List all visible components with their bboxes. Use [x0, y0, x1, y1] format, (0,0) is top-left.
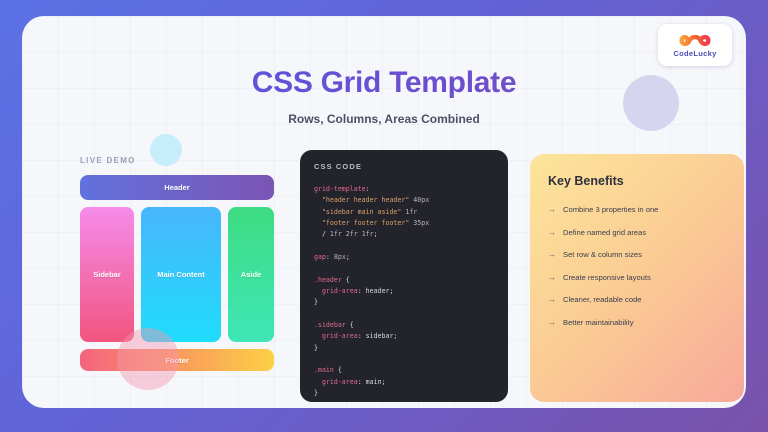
- benefit-item: →Set row & column sizes: [548, 250, 726, 260]
- demo-grid-middle-row: Sidebar Main Content Aside: [80, 207, 274, 342]
- benefit-item: →Better maintainability: [548, 318, 726, 328]
- css-code-label: CSS CODE: [314, 162, 494, 171]
- demo-cell-aside[interactable]: Aside: [228, 207, 274, 342]
- live-demo-section: LIVE DEMO Header Sidebar Main Content As…: [80, 156, 274, 371]
- benefit-item: →Create responsive layouts: [548, 273, 726, 283]
- key-benefits-title: Key Benefits: [548, 174, 726, 188]
- benefit-item: →Define named grid areas: [548, 228, 726, 238]
- demo-cell-header[interactable]: Header: [80, 175, 274, 200]
- benefit-label: Define named grid areas: [563, 228, 646, 237]
- decorative-circle-pink: [117, 328, 179, 390]
- arrow-right-icon: →: [548, 250, 556, 260]
- benefit-item: →Cleaner, readable code: [548, 295, 726, 305]
- arrow-right-icon: →: [548, 295, 556, 305]
- key-benefits-list: →Combine 3 properties in one→Define name…: [548, 205, 726, 328]
- benefit-item: →Combine 3 properties in one: [548, 205, 726, 215]
- live-demo-label: LIVE DEMO: [80, 156, 274, 165]
- demo-cell-main[interactable]: Main Content: [141, 207, 221, 342]
- infinity-loop-icon: [678, 33, 712, 48]
- demo-grid: Header Sidebar Main Content Aside Footer: [80, 175, 274, 371]
- demo-cell-sidebar[interactable]: Sidebar: [80, 207, 134, 342]
- arrow-right-icon: →: [548, 273, 556, 283]
- benefit-label: Combine 3 properties in one: [563, 205, 658, 214]
- arrow-right-icon: →: [548, 228, 556, 238]
- css-code-body[interactable]: grid-template: "header header header" 40…: [314, 184, 494, 399]
- arrow-right-icon: →: [548, 205, 556, 215]
- benefit-label: Cleaner, readable code: [563, 295, 642, 304]
- brand-logo-badge[interactable]: CodeLucky: [658, 24, 732, 66]
- css-code-panel: CSS CODE grid-template: "header header h…: [300, 150, 508, 402]
- page-title: CSS Grid Template: [22, 66, 746, 100]
- key-benefits-panel: Key Benefits →Combine 3 properties in on…: [530, 154, 744, 402]
- benefit-label: Better maintainability: [563, 318, 634, 327]
- page-subtitle: Rows, Columns, Areas Combined: [22, 112, 746, 126]
- slide-card: CSS Grid Template Rows, Columns, Areas C…: [22, 16, 746, 408]
- benefit-label: Set row & column sizes: [563, 250, 642, 259]
- brand-name: CodeLucky: [673, 49, 716, 58]
- benefit-label: Create responsive layouts: [563, 273, 651, 282]
- arrow-right-icon: →: [548, 318, 556, 328]
